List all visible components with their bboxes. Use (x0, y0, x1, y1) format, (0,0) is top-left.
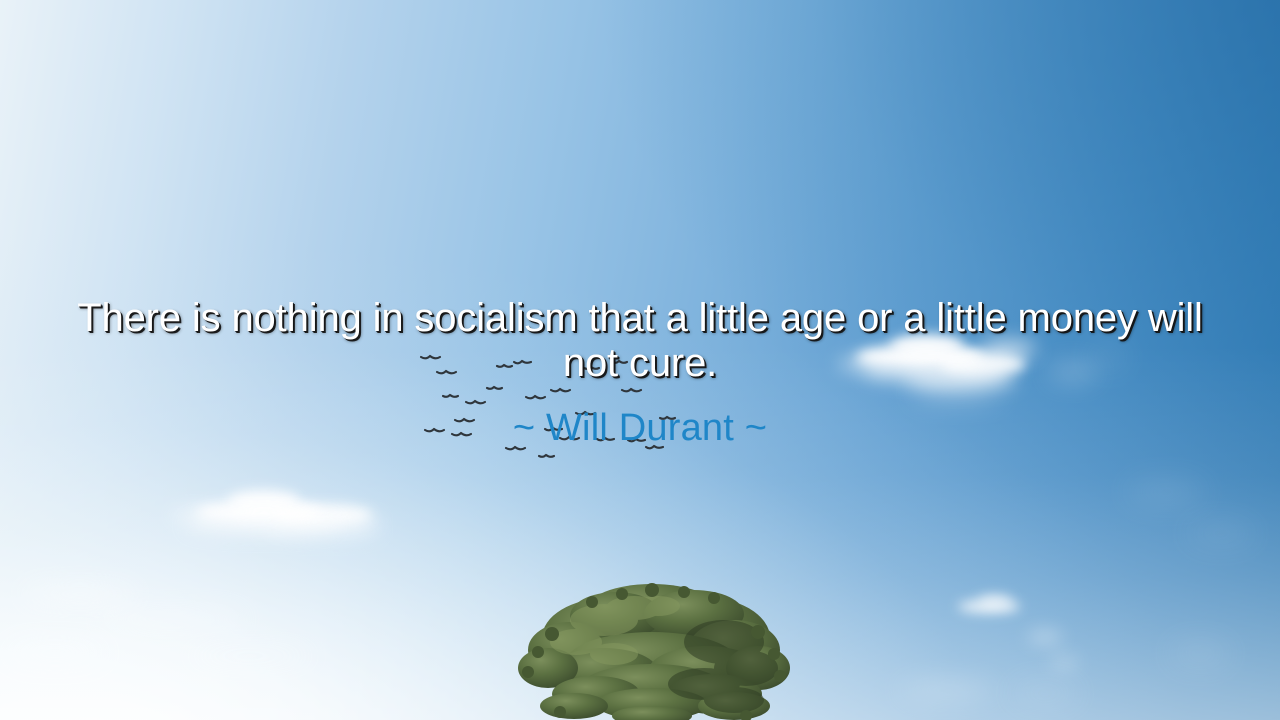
quote-overlay: There is nothing in socialism that a lit… (0, 296, 1280, 386)
quote-author: ~ Will Durant ~ (0, 406, 1280, 450)
lone-tree (508, 576, 796, 720)
quote-image-canvas: There is nothing in socialism that a lit… (0, 0, 1280, 720)
quote-text: There is nothing in socialism that a lit… (0, 296, 1280, 386)
